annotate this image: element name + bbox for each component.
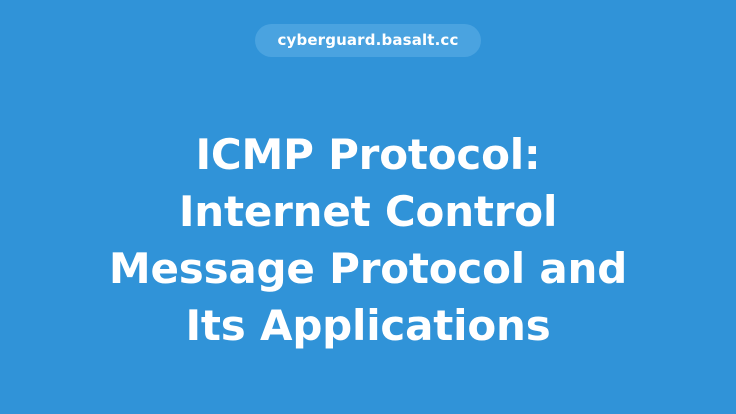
site-domain-label: cyberguard.basalt.cc bbox=[277, 33, 458, 48]
page-title: ICMP Protocol: Internet Control Message … bbox=[0, 126, 736, 354]
page-title-line-2: Internet Control bbox=[40, 183, 696, 240]
title-card: cyberguard.basalt.cc ICMP Protocol: Inte… bbox=[0, 0, 736, 414]
page-title-line-3: Message Protocol and bbox=[40, 240, 696, 297]
site-domain-badge[interactable]: cyberguard.basalt.cc bbox=[255, 24, 480, 57]
badge-row: cyberguard.basalt.cc bbox=[0, 24, 736, 57]
page-title-line-1: ICMP Protocol: bbox=[40, 126, 696, 183]
page-title-line-4: Its Applications bbox=[40, 297, 696, 354]
